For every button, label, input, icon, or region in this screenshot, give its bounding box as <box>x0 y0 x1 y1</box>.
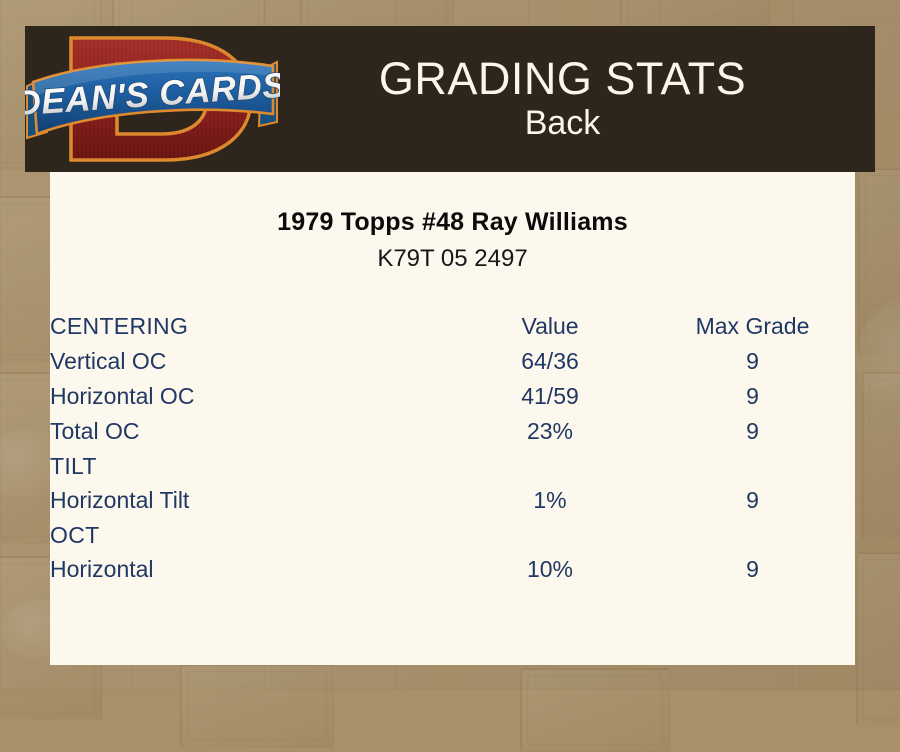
content-panel: 1979 Topps #48 Ray Williams K79T 05 2497… <box>50 172 855 665</box>
row-value: 1% <box>450 483 650 518</box>
row-value: 64/36 <box>450 344 650 379</box>
page-title: GRADING STATS <box>280 55 845 103</box>
row-value: 41/59 <box>450 379 650 414</box>
table-row: Horizontal10%9 <box>50 552 855 587</box>
column-header-centering: CENTERING <box>50 309 450 344</box>
row-label: Horizontal OC <box>50 379 450 414</box>
grading-stats-table: CENTERING Value Max Grade Vertical OC64/… <box>50 309 855 587</box>
logo-graphic: DEAN'S CARDS <box>25 26 280 172</box>
table-row: Total OC23%9 <box>50 414 855 449</box>
column-header-max-grade: Max Grade <box>650 309 855 344</box>
section-spacer-value <box>450 518 650 552</box>
table-header: CENTERING Value Max Grade <box>50 309 855 344</box>
column-header-value: Value <box>450 309 650 344</box>
row-label: Horizontal <box>50 552 450 587</box>
header-bar: DEAN'S CARDS GRADING STATS Back <box>25 26 875 172</box>
table-header-row: CENTERING Value Max Grade <box>50 309 855 344</box>
table-body: Vertical OC64/369Horizontal OC41/599Tota… <box>50 344 855 587</box>
row-label: Horizontal Tilt <box>50 483 450 518</box>
row-value: 23% <box>450 414 650 449</box>
row-value: 10% <box>450 552 650 587</box>
table-row: Horizontal Tilt1%9 <box>50 483 855 518</box>
row-label: Total OC <box>50 414 450 449</box>
row-max-grade: 9 <box>650 379 855 414</box>
section-spacer-value <box>450 449 650 483</box>
section-title: TILT <box>50 449 450 483</box>
deans-cards-logo[interactable]: DEAN'S CARDS <box>25 26 280 172</box>
card-serial-number: K79T 05 2497 <box>50 245 855 273</box>
section-title: OCT <box>50 518 450 552</box>
page-subtitle: Back <box>280 104 845 143</box>
row-max-grade: 9 <box>650 552 855 587</box>
table-row: Vertical OC64/369 <box>50 344 855 379</box>
row-max-grade: 9 <box>650 344 855 379</box>
row-label: Vertical OC <box>50 344 450 379</box>
card-heading: 1979 Topps #48 Ray Williams <box>50 208 855 237</box>
section-spacer-grade <box>650 449 855 483</box>
section-row: TILT <box>50 449 855 483</box>
row-max-grade: 9 <box>650 483 855 518</box>
section-spacer-grade <box>650 518 855 552</box>
table-row: Horizontal OC41/599 <box>50 379 855 414</box>
section-row: OCT <box>50 518 855 552</box>
row-max-grade: 9 <box>650 414 855 449</box>
header-title-group: GRADING STATS Back <box>280 55 875 144</box>
